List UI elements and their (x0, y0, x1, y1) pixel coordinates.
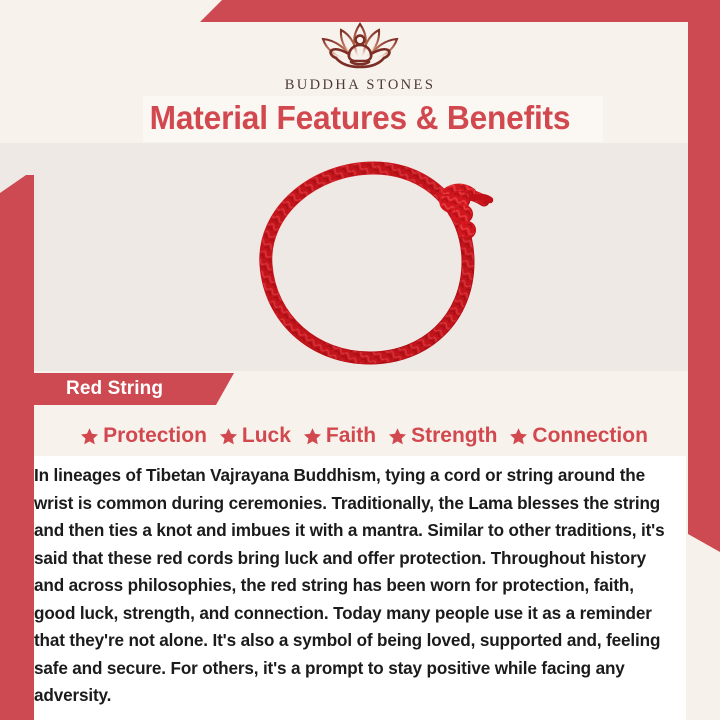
benefit-item: Strength (388, 424, 497, 448)
decor-left-red-band (0, 175, 34, 720)
product-label-text: Red String (66, 378, 163, 400)
benefit-item: Protection (80, 424, 207, 448)
benefit-label: Faith (326, 424, 376, 448)
benefit-item: Faith (303, 424, 376, 448)
brand-logo: BUDDHA STONES (0, 14, 720, 94)
star-icon (509, 427, 528, 446)
brand-name: BUDDHA STONES (285, 77, 436, 94)
product-image-red-string-bracelet (222, 152, 512, 374)
infographic-page: BUDDHA STONES Material Features & Benefi… (0, 0, 720, 720)
benefit-label: Luck (242, 424, 291, 448)
page-title: Material Features & Benefits (14, 95, 705, 141)
description-text: In lineages of Tibetan Vajrayana Buddhis… (34, 462, 670, 710)
benefit-item: Connection (509, 424, 648, 448)
star-icon (303, 427, 322, 446)
benefits-row: Protection Luck Faith Strength Connectio… (34, 418, 694, 454)
star-icon (80, 427, 99, 446)
benefit-label: Protection (103, 424, 207, 448)
star-icon (219, 427, 238, 446)
star-icon (388, 427, 407, 446)
benefit-item: Luck (219, 424, 291, 448)
product-label-banner: Red String (34, 373, 234, 405)
description-panel: In lineages of Tibetan Vajrayana Buddhis… (34, 456, 686, 720)
lotus-meditation-icon (301, 14, 419, 74)
benefit-label: Connection (532, 424, 648, 448)
benefit-label: Strength (411, 424, 497, 448)
